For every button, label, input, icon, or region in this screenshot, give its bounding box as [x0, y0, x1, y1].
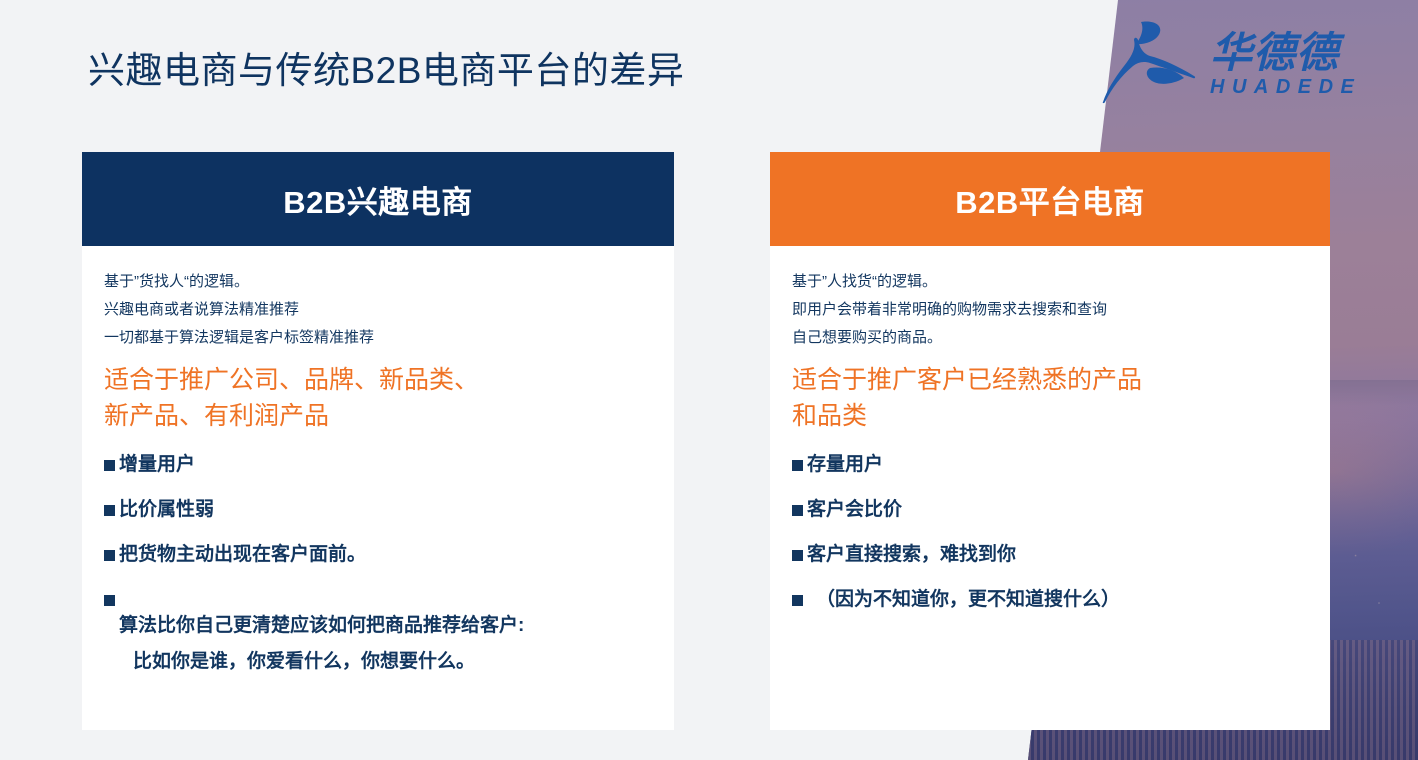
square-bullet-icon [104, 505, 115, 516]
square-bullet-icon [792, 550, 803, 561]
highlight-line: 适合于推广客户已经熟悉的产品 [792, 362, 1308, 398]
comparison-panel-b2b-platform-ecommerce: B2B平台电商 基于”人找货“的逻辑。 即用户会带着非常明确的购物需求去搜索和查… [770, 152, 1330, 730]
intro-line: 基于”货找人“的逻辑。 [104, 268, 652, 296]
list-item-label: 存量用户 [807, 452, 883, 478]
brand-name-cn: 华德德 [1210, 30, 1361, 76]
square-bullet-icon [104, 550, 115, 561]
intro-block-right: 基于”人找货“的逻辑。 即用户会带着非常明确的购物需求去搜索和查询 自己想要购买… [770, 268, 1330, 352]
panel-body-left: 基于”货找人“的逻辑。 兴趣电商或者说算法精准推荐 一切都基于算法逻辑是客户标签… [82, 246, 674, 730]
list-item: 客户会比价 [792, 497, 1308, 523]
square-bullet-icon [104, 595, 115, 606]
brand-name-en: HUADEDE [1210, 76, 1361, 98]
list-item: 比价属性弱 [104, 497, 652, 523]
list-item: 把货物主动出现在客户面前。 [104, 542, 652, 568]
list-item-primary-text: 算法比你自己更清楚应该如何把商品推荐给客户: [119, 615, 524, 636]
intro-line: 即用户会带着非常明确的购物需求去搜索和查询 [792, 296, 1308, 324]
bullet-list-right: 存量用户 客户会比价 客户直接搜索，难找到你 （因为不知道你，更不知道搜什么） [770, 438, 1330, 613]
page-title: 兴趣电商与传统B2B电商平台的差异 [88, 48, 684, 94]
highlight-line: 和品类 [792, 398, 1308, 434]
bullet-list-left: 增量用户 比价属性弱 把货物主动出现在客户面前。 算法比你自己更清楚应该如何把商… [82, 438, 674, 701]
square-bullet-icon [792, 460, 803, 471]
highlight-block-right: 适合于推广客户已经熟悉的产品 和品类 [770, 352, 1330, 438]
list-item-label: （因为不知道你，更不知道搜什么） [816, 587, 1120, 613]
intro-line: 兴趣电商或者说算法精准推荐 [104, 296, 652, 324]
panel-header-left: B2B兴趣电商 [82, 152, 674, 246]
square-bullet-icon [104, 460, 115, 471]
list-item-label: 客户直接搜索，难找到你 [807, 542, 1016, 568]
list-item-continuation-text: 比如你是谁，你爱看什么，你想要什么。 [119, 649, 524, 675]
huadede-swoosh-mark-icon [1100, 18, 1196, 109]
panel-body-right: 基于”人找货“的逻辑。 即用户会带着非常明确的购物需求去搜索和查询 自己想要购买… [770, 246, 1330, 730]
intro-line: 基于”人找货“的逻辑。 [792, 268, 1308, 296]
list-item: 增量用户 [104, 452, 652, 478]
brand-logo: 华德德 HUADEDE [1100, 18, 1361, 109]
list-item-label: 比价属性弱 [119, 497, 214, 523]
list-item: 算法比你自己更清楚应该如何把商品推荐给客户: 比如你是谁，你爱看什么，你想要什么… [104, 587, 652, 701]
list-item: （因为不知道你，更不知道搜什么） [792, 587, 1308, 613]
list-item: 存量用户 [792, 452, 1308, 478]
intro-line: 自己想要购买的商品。 [792, 324, 1308, 352]
comparison-panel-b2b-interest-ecommerce: B2B兴趣电商 基于”货找人“的逻辑。 兴趣电商或者说算法精准推荐 一切都基于算… [82, 152, 674, 730]
intro-line: 一切都基于算法逻辑是客户标签精准推荐 [104, 324, 652, 352]
list-item-label: 把货物主动出现在客户面前。 [119, 542, 366, 568]
list-item-label: 增量用户 [119, 452, 195, 478]
square-bullet-icon [792, 505, 803, 516]
list-item-label: 算法比你自己更清楚应该如何把商品推荐给客户: 比如你是谁，你爱看什么，你想要什么… [119, 587, 524, 701]
highlight-block-left: 适合于推广公司、品牌、新品类、 新产品、有利润产品 [82, 352, 674, 438]
highlight-line: 适合于推广公司、品牌、新品类、 [104, 362, 652, 398]
square-bullet-icon [792, 595, 803, 606]
list-item: 客户直接搜索，难找到你 [792, 542, 1308, 568]
list-item-label: 客户会比价 [807, 497, 902, 523]
intro-block-left: 基于”货找人“的逻辑。 兴趣电商或者说算法精准推荐 一切都基于算法逻辑是客户标签… [82, 268, 674, 352]
brand-wordmark: 华德德 HUADEDE [1210, 30, 1361, 98]
highlight-line: 新产品、有利润产品 [104, 398, 652, 434]
panel-header-right: B2B平台电商 [770, 152, 1330, 246]
